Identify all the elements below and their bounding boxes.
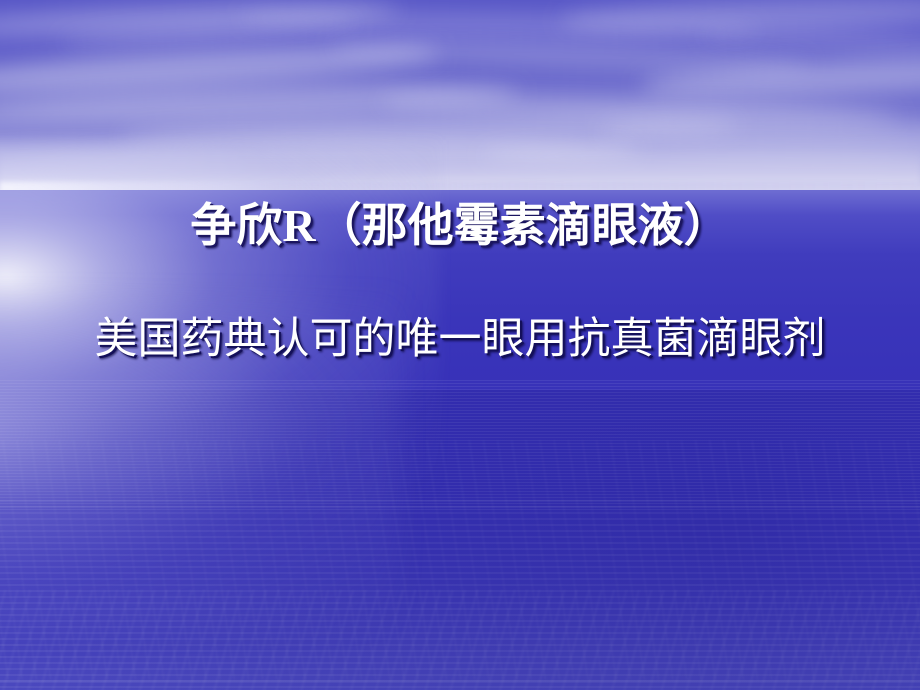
slide-title: 争欣R（那他霉素滴眼液） [0,196,920,256]
presentation-slide: 争欣R（那他霉素滴眼液） 美国药典认可的唯一眼用抗真菌滴眼剂 [0,0,920,690]
slide-text-layer: 争欣R（那他霉素滴眼液） 美国药典认可的唯一眼用抗真菌滴眼剂 [0,0,920,690]
slide-subtitle: 美国药典认可的唯一眼用抗真菌滴眼剂 [0,312,920,368]
